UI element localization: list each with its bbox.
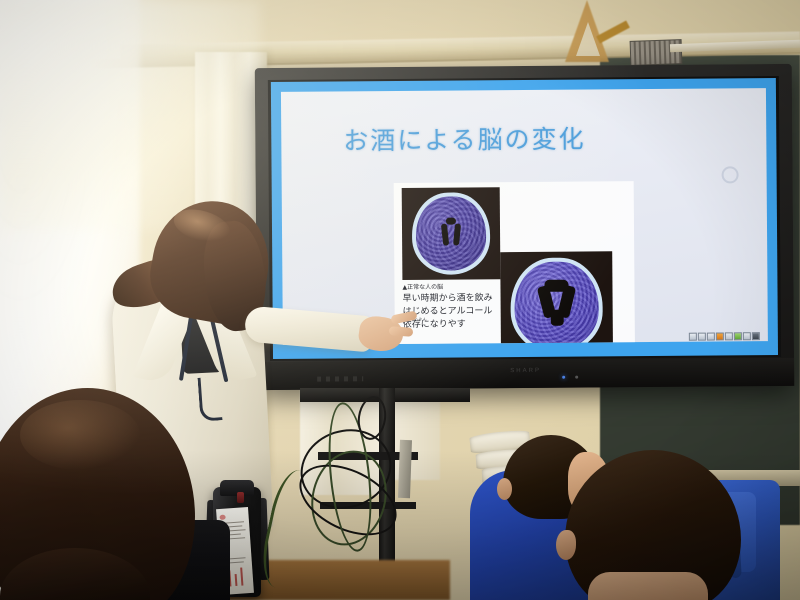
page-forward-icon[interactable] [734,332,742,340]
set-square-cutout [576,22,600,56]
shrunken-brain-ct-image [500,251,613,345]
cable-wall-plate [398,440,412,498]
settings-tool-icon[interactable] [752,332,760,340]
image-tool-icon[interactable] [725,332,733,340]
student-front-neck [588,572,708,600]
power-led-icon [562,376,565,379]
sensor-led-icon [575,376,578,379]
normal-brain-ct-image [402,187,501,280]
lanyard-loop [197,376,222,421]
highlight-tool-icon[interactable] [716,332,724,340]
handout-chart-bar [235,574,238,586]
slide-watermark-circle [722,166,739,183]
handout-chart-bar [240,568,243,586]
middle-finger [389,326,414,337]
pen-tool-icon[interactable] [698,333,706,341]
thermos-lock-button [237,492,244,503]
slide-title: お酒による脳の変化 [343,120,586,158]
student-blue-jacket-ear [497,478,512,500]
select-tool-icon[interactable] [689,333,697,341]
classroom-presentation-photo: お酒による脳の変化 ▲正常な人の脳 [0,0,800,600]
whiteboard-toolbar[interactable] [689,332,760,341]
handout-bullet-icon [219,515,225,520]
shape-tool-icon[interactable] [707,333,715,341]
display-brand-logo: SHARP [510,368,541,374]
normal-brain-caption: ▲正常な人の脳 [402,282,443,291]
student-long-hair-highlight [20,400,140,470]
student-front-ear [556,530,576,560]
page-back-icon[interactable] [743,332,751,340]
slide-body-text: 早い時期から酒を飲みはじめるとアルコール依存になりやす [403,292,495,332]
